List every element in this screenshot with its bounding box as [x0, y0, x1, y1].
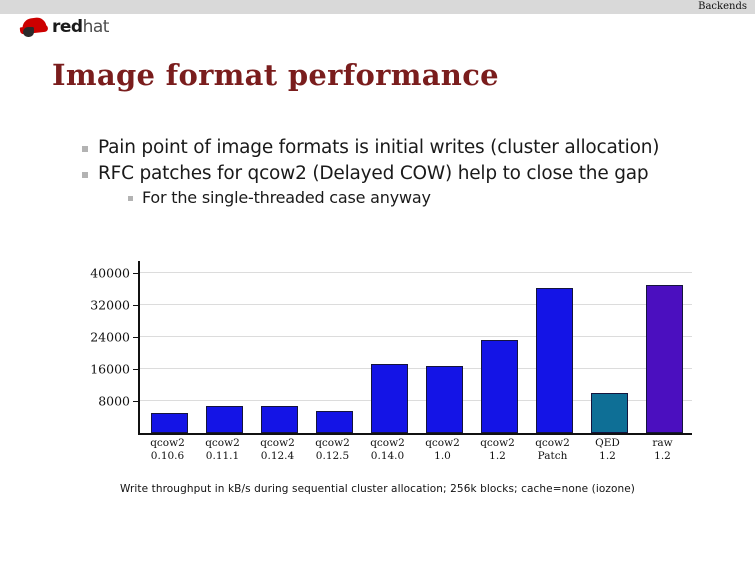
chart-caption: Write throughput in kB/s during sequenti… — [0, 483, 755, 495]
logo-wordmark-red: red — [52, 17, 83, 37]
chart-y-tick-label: 8000 — [68, 394, 130, 409]
chart-x-tick-label: qcow2Patch — [525, 433, 580, 463]
chart-bar-slot — [142, 261, 197, 433]
logo-wordmark-hat: hat — [83, 17, 109, 37]
list-item: RFC patches for qcow2 (Delayed COW) help… — [82, 162, 712, 186]
chart-bars — [142, 261, 692, 433]
chart-plot-area — [138, 261, 692, 435]
page-title: Image format performance — [52, 58, 499, 92]
chart-x-tick-label: qcow20.11.1 — [195, 433, 250, 463]
chart-y-tick-mark — [133, 401, 138, 402]
chart-x-axis: qcow20.10.6qcow20.11.1qcow20.12.4qcow20.… — [140, 433, 690, 463]
chart-x-tick-label: qcow20.12.4 — [250, 433, 305, 463]
chart-y-tick-label: 32000 — [68, 298, 130, 313]
chart-x-tick-label: qcow21.0 — [415, 433, 470, 463]
chart-x-tick-label: qcow20.10.6 — [140, 433, 195, 463]
bullet-square-icon — [82, 146, 88, 152]
chart-bar-slot — [527, 261, 582, 433]
chart-y-tick-mark — [133, 337, 138, 338]
chart-bar — [316, 411, 353, 433]
chart-bar — [481, 340, 518, 433]
chart-y-tick-label: 40000 — [68, 266, 130, 281]
chart-y-tick-mark — [133, 369, 138, 370]
chart-bar — [261, 406, 298, 433]
chart-bar-slot — [417, 261, 472, 433]
chart-bar-slot — [472, 261, 527, 433]
bullet-text: RFC patches for qcow2 (Delayed COW) help… — [98, 162, 648, 186]
chart-bar — [371, 364, 408, 433]
chart-bar — [426, 366, 463, 433]
chart-bar-slot — [637, 261, 692, 433]
chart-x-tick-label: qcow20.12.5 — [305, 433, 360, 463]
chart-bar-slot — [582, 261, 637, 433]
chart-bar — [151, 413, 188, 433]
chart-x-tick-label: qcow21.2 — [470, 433, 525, 463]
bullet-square-icon — [128, 196, 133, 201]
chart-y-tick-label: 24000 — [68, 330, 130, 345]
logo-wordmark: redhat — [52, 19, 109, 36]
bullet-list: Pain point of image formats is initial w… — [82, 136, 712, 210]
chart-x-tick-label: raw1.2 — [635, 433, 690, 463]
chart-bar-slot — [252, 261, 307, 433]
chart-bar — [591, 393, 628, 433]
bullet-square-icon — [82, 172, 88, 178]
chart-bar — [646, 285, 683, 433]
list-item: For the single-threaded case anyway — [128, 188, 712, 208]
chart-y-tick-mark — [133, 273, 138, 274]
bullet-text: Pain point of image formats is initial w… — [98, 136, 659, 160]
bar-chart: 800016000240003200040000 qcow20.10.6qcow… — [0, 240, 755, 510]
top-header-bar: Backends — [0, 0, 755, 14]
list-item: Pain point of image formats is initial w… — [82, 136, 712, 160]
chart-bar — [206, 406, 243, 433]
chart-bar — [536, 288, 573, 433]
chart-bar-slot — [307, 261, 362, 433]
bullet-text: For the single-threaded case anyway — [142, 188, 431, 208]
section-label: Backends — [698, 0, 747, 14]
redhat-logo: redhat — [20, 14, 109, 40]
chart-y-tick-label: 16000 — [68, 362, 130, 377]
chart-x-tick-label: qcow20.14.0 — [360, 433, 415, 463]
chart-bar-slot — [362, 261, 417, 433]
chart-x-tick-label: QED1.2 — [580, 433, 635, 463]
chart-bar-slot — [197, 261, 252, 433]
chart-y-tick-mark — [133, 305, 138, 306]
redhat-shadowman-icon — [20, 16, 50, 38]
